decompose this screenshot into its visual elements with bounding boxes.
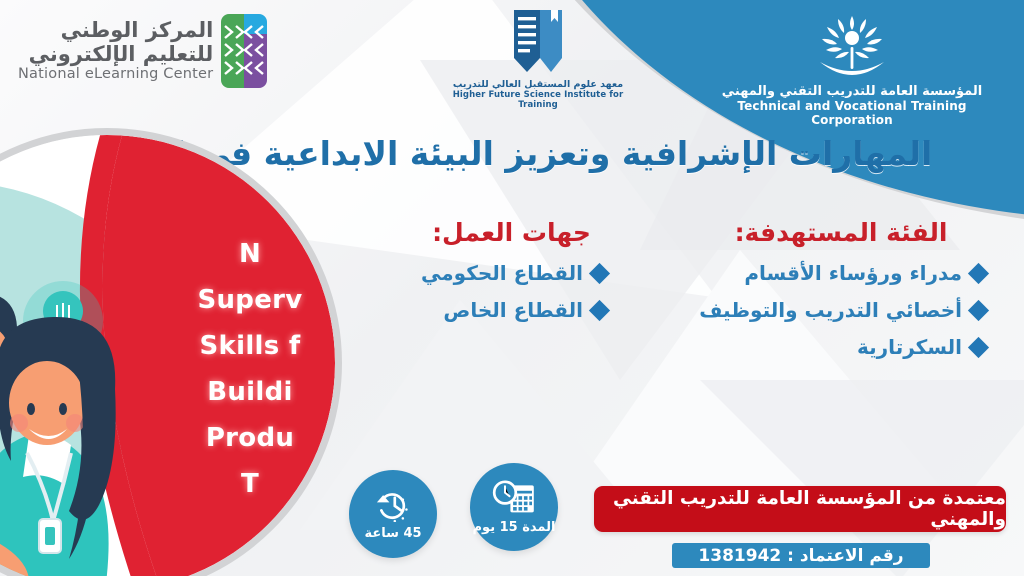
clock-icon xyxy=(373,488,413,522)
illustration-ring: N Superv Skills f Buildi Produ T xyxy=(0,128,342,576)
en-line: Produ xyxy=(175,415,325,461)
list-item: أخصائي التدريب والتوظيف xyxy=(706,298,986,322)
institute-arabic-name: معهد علوم المستقبل العالي للتدريب xyxy=(443,79,633,90)
tvtc-logo: المؤسسة العامة للتدريب التقني والمهني Te… xyxy=(702,14,1002,127)
employers-section: جهات العمل: القطاع الحكومي القطاع الخاص xyxy=(394,218,629,335)
target-audience-section: الفئة المستهدفة: مدراء ورؤساء الأقسام أخ… xyxy=(706,218,986,372)
list-item: السكرتارية xyxy=(706,335,986,359)
nelc-logo: المركز الوطني للتعليم الإلكتروني Nationa… xyxy=(18,14,267,88)
tvtc-english-name: Technical and Vocational Training Corpor… xyxy=(702,99,1002,127)
duration-hours-label: 45 ساعة xyxy=(364,526,421,541)
calendar-clock-icon xyxy=(492,480,536,516)
nelc-arabic-line1: المركز الوطني xyxy=(18,19,213,43)
diamond-bullet-icon xyxy=(968,336,989,357)
accreditation-banner: معتمدة من المؤسسة العامة للتدريب التقني … xyxy=(594,486,1006,532)
duration-hours-badge: 45 ساعة xyxy=(349,470,437,558)
en-line: N xyxy=(175,231,325,277)
nelc-english-name: National eLearning Center xyxy=(18,66,213,82)
employers-heading: جهات العمل: xyxy=(394,218,629,247)
institute-english-name: Higher Future Science Institute for Trai… xyxy=(443,90,633,110)
list-item: القطاع الحكومي xyxy=(394,261,629,285)
nelc-mark-icon xyxy=(221,14,267,88)
institute-logo: معهد علوم المستقبل العالي للتدريب Higher… xyxy=(443,6,633,110)
en-line: T xyxy=(175,461,325,507)
diamond-bullet-icon xyxy=(968,299,989,320)
course-poster: المركز الوطني للتعليم الإلكتروني Nationa… xyxy=(0,0,1024,576)
target-audience-heading: الفئة المستهدفة: xyxy=(706,218,986,247)
tvtc-arabic-name: المؤسسة العامة للتدريب التقني والمهني xyxy=(702,84,1002,99)
diamond-bullet-icon xyxy=(589,262,610,283)
diamond-bullet-icon xyxy=(968,262,989,283)
list-item-label: القطاع الحكومي xyxy=(421,261,583,285)
palm-star-icon xyxy=(815,14,889,80)
list-item-label: السكرتارية xyxy=(857,335,962,359)
en-line: Skills f xyxy=(175,323,325,369)
book-shield-icon xyxy=(506,6,570,76)
accreditation-number: رقم الاعتماد : 1381942 xyxy=(672,543,930,568)
target-audience-list: مدراء ورؤساء الأقسام أخصائي التدريب والت… xyxy=(706,261,986,359)
list-item-label: مدراء ورؤساء الأقسام xyxy=(744,261,962,285)
illustration-circle: N Superv Skills f Buildi Produ T xyxy=(0,128,342,576)
list-item: مدراء ورؤساء الأقسام xyxy=(706,261,986,285)
list-item-label: القطاع الخاص xyxy=(443,298,583,322)
duration-days-badge: المدة 15 يوم xyxy=(470,463,558,551)
list-item: القطاع الخاص xyxy=(394,298,629,322)
illustration-english-text: N Superv Skills f Buildi Produ T xyxy=(175,231,325,507)
en-line: Superv xyxy=(175,277,325,323)
nelc-arabic-line2: للتعليم الإلكتروني xyxy=(18,43,213,67)
en-line: Buildi xyxy=(175,369,325,415)
list-item-label: أخصائي التدريب والتوظيف xyxy=(699,298,962,322)
employers-list: القطاع الحكومي القطاع الخاص xyxy=(394,261,629,322)
diamond-bullet-icon xyxy=(589,299,610,320)
duration-days-label: المدة 15 يوم xyxy=(473,520,556,535)
